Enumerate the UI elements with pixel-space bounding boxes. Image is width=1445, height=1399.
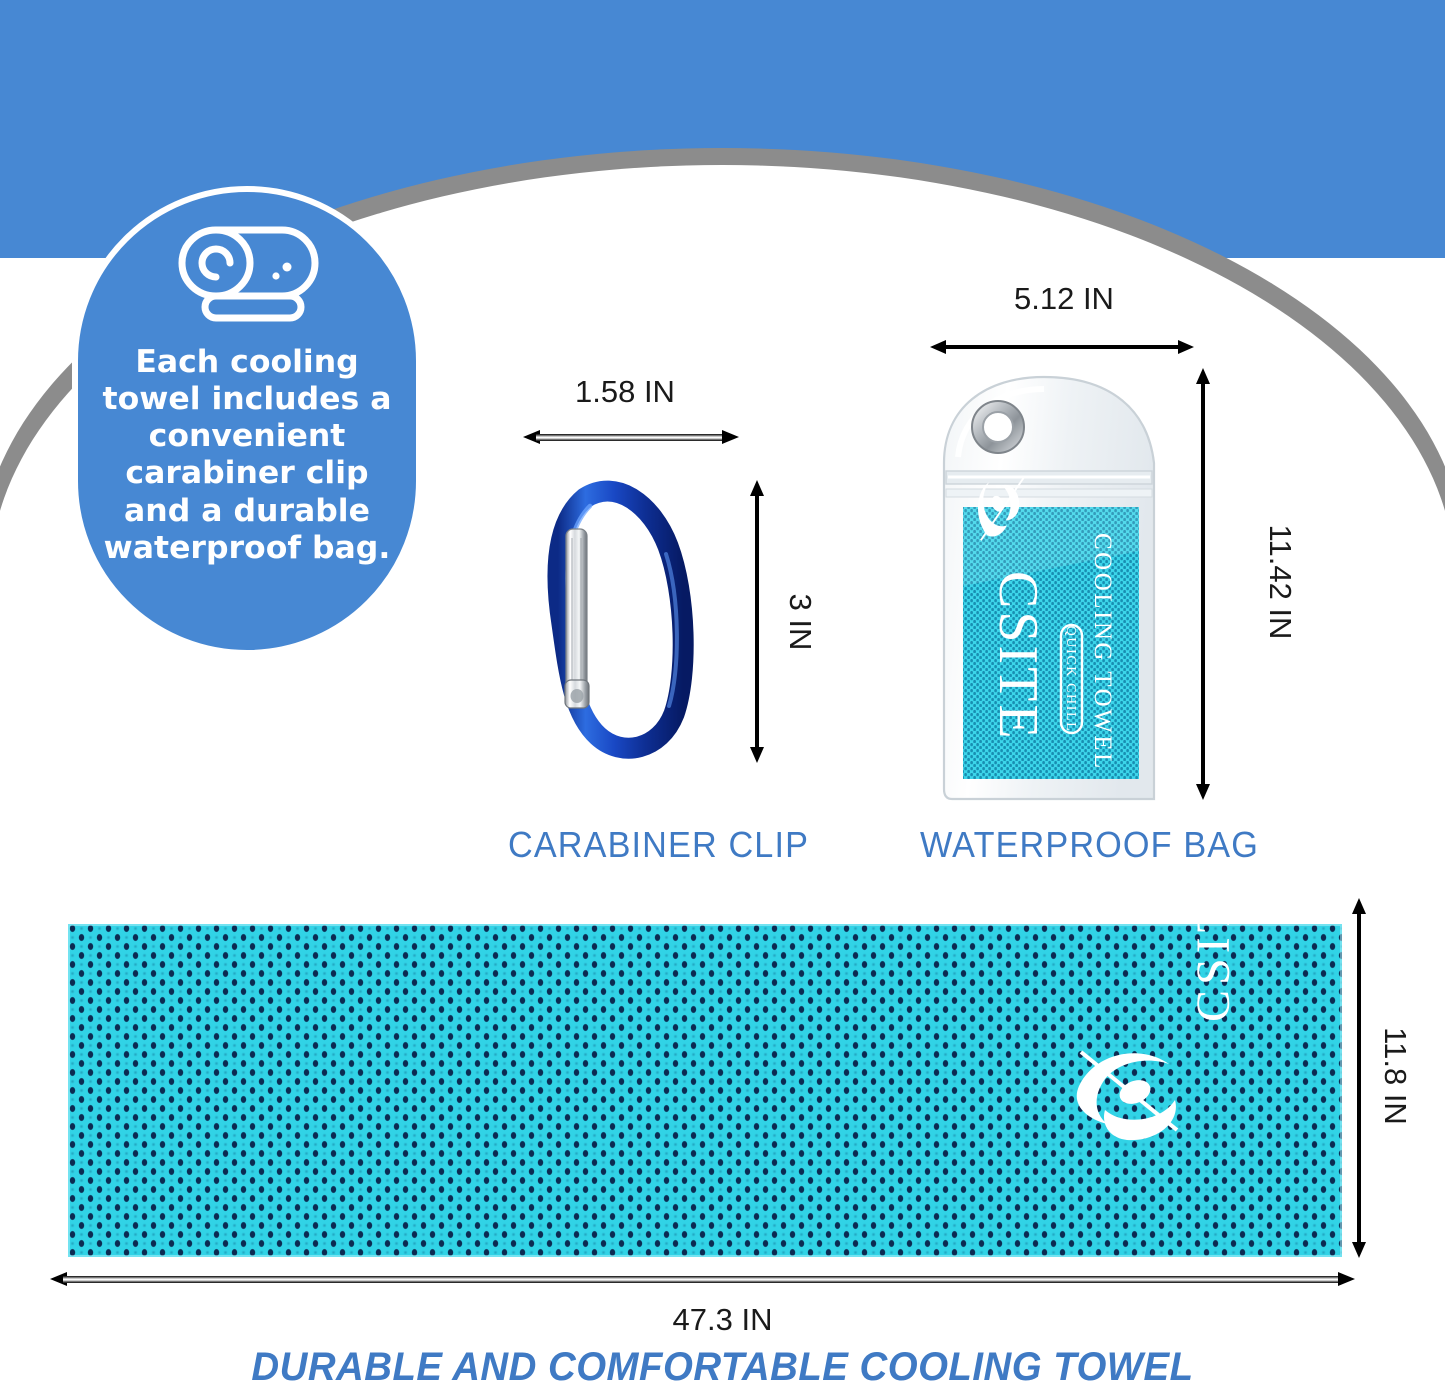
bottom-caption: DURABLE AND COMFORTABLE COOLING TOWEL	[29, 1345, 1416, 1390]
carabiner-height-arrow	[750, 480, 764, 763]
towel-height-label: 11.8 IN	[1377, 1011, 1413, 1141]
bag-width-label: 5.12 IN	[1014, 281, 1114, 317]
svg-text:CSITE: CSITE	[987, 571, 1049, 742]
bag-height-label: 11.42 IN	[1262, 492, 1298, 672]
waterproof-bag-image: CSITE COOLING TOWEL QUICK CHILL	[940, 371, 1190, 807]
carabiner-height-label: 3 IN	[782, 582, 818, 662]
badge-text: Each cooling towel includes a convenient…	[97, 344, 397, 567]
towel-width-arrow	[50, 1272, 1355, 1286]
bag-width-arrow	[930, 340, 1194, 354]
svg-text:COOLING TOWEL: COOLING TOWEL	[1089, 533, 1116, 771]
csite-logo-icon	[1065, 1030, 1195, 1150]
carabiner-width-arrow	[523, 430, 739, 444]
info-badge: Each cooling towel includes a convenient…	[72, 186, 422, 656]
svg-text:QUICK CHILL: QUICK CHILL	[1063, 626, 1078, 733]
carabiner-clip-image	[538, 474, 698, 769]
bag-height-arrow	[1196, 368, 1210, 800]
carabiner-section-label: CARABINER CLIP	[508, 824, 809, 866]
towel-width-label: 47.3 IN	[0, 1302, 1445, 1338]
towel-brand-text: CSITE	[1186, 864, 1241, 1022]
towel-height-arrow	[1352, 898, 1366, 1258]
rolled-towel-icon	[170, 218, 324, 336]
bag-section-label: WATERPROOF BAG	[920, 824, 1259, 866]
carabiner-width-label: 1.58 IN	[575, 374, 675, 410]
